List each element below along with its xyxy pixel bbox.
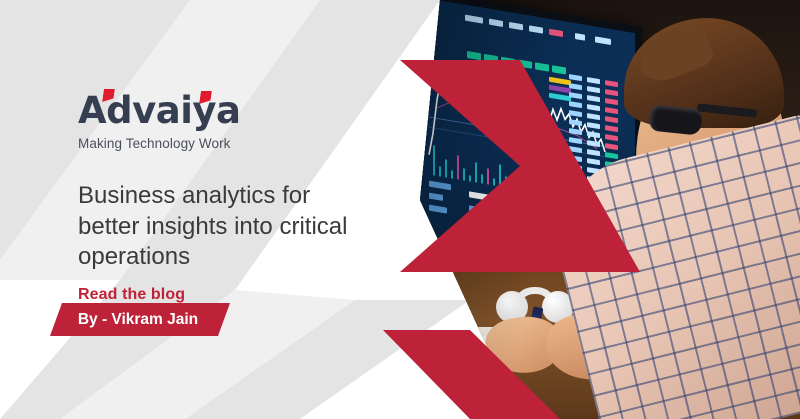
author-name: By - Vikram Jain <box>78 311 198 329</box>
content-block: Advaiya Making Technology Work Business … <box>78 92 378 320</box>
author-banner: By - Vikram Jain <box>50 303 230 336</box>
marketing-banner: Advaiya Making Technology Work Business … <box>0 0 800 419</box>
read-the-blog-link[interactable]: Read the blog <box>78 286 185 304</box>
brand-logo[interactable]: Advaiya Making Technology Work <box>78 92 378 151</box>
brand-tagline: Making Technology Work <box>78 136 378 151</box>
page-title: Business analytics for better insights i… <box>78 181 378 273</box>
logo-wordmark: Advaiya <box>78 92 240 129</box>
